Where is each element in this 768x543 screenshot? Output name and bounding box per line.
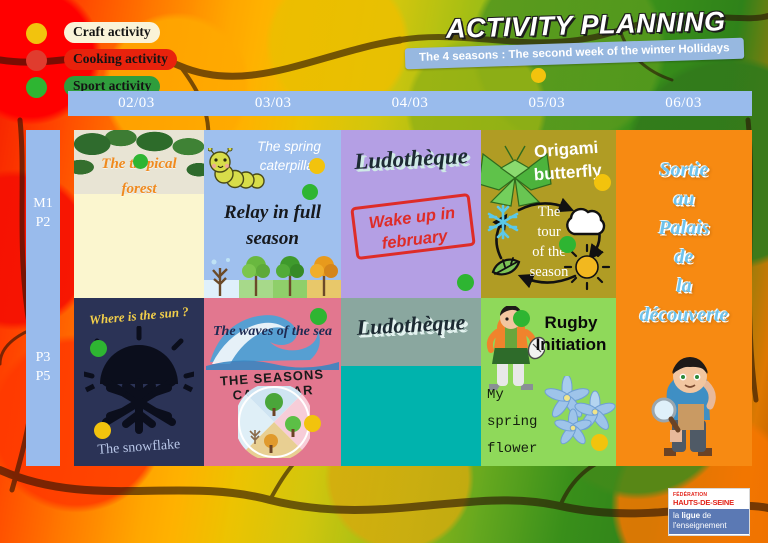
legend-item-label: Cooking activity	[64, 49, 177, 70]
sport-activity-dot	[310, 308, 327, 325]
activity-title: The waves of the sea	[206, 324, 339, 340]
logo-tagline: un avenir par l'éducation populaire	[669, 534, 749, 536]
sport-activity-dot	[559, 236, 576, 253]
logo-department-label: HAUTS-DE-SEINE	[669, 498, 749, 507]
activity-cell-tropical-forest[interactable]: The tropicalforest	[74, 130, 204, 298]
activity-title: The snowflake	[80, 436, 199, 460]
craft-activity-dot	[26, 23, 47, 44]
craft-activity-dot	[531, 68, 546, 83]
row-label-m1-p2: M1 P2	[26, 194, 60, 232]
cooking-activity-dot	[26, 50, 47, 71]
activity-cell-ludotheque-afternoon[interactable]: Ludothèque	[341, 298, 481, 466]
row-label-line: P5	[26, 367, 60, 386]
craft-activity-dot	[309, 158, 325, 174]
activity-cell-rugby-initiation[interactable]: RugbyInitiation Myspringflower	[481, 298, 616, 466]
activity-title: Ludothèque	[344, 143, 477, 176]
snowflake-icon	[489, 206, 517, 238]
activity-title: RugbyInitiation	[527, 312, 615, 356]
activity-legend: Craft activity Cooking activity Sport ac…	[26, 21, 196, 102]
sport-activity-dot	[513, 310, 530, 327]
sport-activity-dot	[90, 340, 107, 357]
date-header-cell: 06/03	[615, 91, 752, 116]
activity-cell-where-is-the-sun[interactable]: Where is the sun ? T	[74, 298, 204, 466]
logo-blue-band: la ligue de l'enseignement	[669, 509, 749, 534]
date-header-cell: 05/03	[478, 91, 615, 116]
activity-cell-waves-seasons-calendar[interactable]: The waves of the sea THE SEASONS CALENDA…	[204, 298, 341, 466]
activity-cell-relay-in-full-season[interactable]: The springcaterpillar Relay in fullseaso…	[204, 130, 341, 298]
activity-cell-ludotheque-morning[interactable]: Ludothèque Wake up infebruary	[341, 130, 481, 298]
legend-item-cooking: Cooking activity	[26, 48, 196, 72]
date-header-cell: 02/03	[68, 91, 205, 116]
sport-activity-dot	[302, 184, 318, 200]
date-header-cell: 04/03	[342, 91, 479, 116]
logo-federation-label: FÉDÉRATION	[669, 489, 749, 498]
activity-cell-sortie-palais-decouverte[interactable]: SortieauPalaisdeladécouverte	[616, 130, 752, 466]
date-header-cell: 03/03	[205, 91, 342, 116]
stamp-text: Wake up infebruary	[354, 200, 473, 258]
sport-activity-dot	[26, 77, 47, 98]
row-label-p3-p5: P3 P5	[26, 348, 60, 386]
activity-title: Relay in fullseason	[206, 200, 339, 252]
planning-grid: M1 P2 P3 P5 The tropicalforest	[26, 130, 752, 466]
logo-ligue-line: la ligue de	[673, 511, 745, 521]
legend-item-label: Craft activity	[64, 22, 160, 43]
magnifying-glass-icon	[653, 399, 678, 430]
logo-enseignement-line: l'enseignement	[673, 521, 745, 531]
date-header-row: 02/03 03/03 04/03 05/03 06/03	[68, 91, 752, 116]
row-label-line: P2	[26, 213, 60, 232]
activity-title: SortieauPalaisdeladécouverte	[616, 156, 752, 330]
row-label-strip: M1 P2 P3 P5	[26, 130, 60, 466]
seasons-wheel-icon	[238, 386, 310, 458]
sport-activity-dot	[133, 154, 148, 169]
activity-cell-origami-butterfly[interactable]: Origamibutterfly	[481, 130, 616, 298]
caterpillar-icon	[208, 148, 268, 192]
craft-activity-dot	[304, 415, 321, 432]
craft-activity-dot	[591, 434, 608, 451]
row-label-line: P3	[26, 348, 60, 367]
explorer-boy-illustration	[642, 352, 728, 462]
legend-item-craft: Craft activity	[26, 21, 196, 45]
row-label-line: M1	[26, 194, 60, 213]
ligue-enseignement-logo: FÉDÉRATION HAUTS-DE-SEINE la ligue de l'…	[668, 488, 750, 536]
wake-up-in-february-stamp: Wake up infebruary	[350, 193, 476, 260]
craft-activity-dot	[594, 174, 611, 191]
sport-activity-dot	[457, 274, 474, 291]
craft-activity-dot	[94, 422, 111, 439]
